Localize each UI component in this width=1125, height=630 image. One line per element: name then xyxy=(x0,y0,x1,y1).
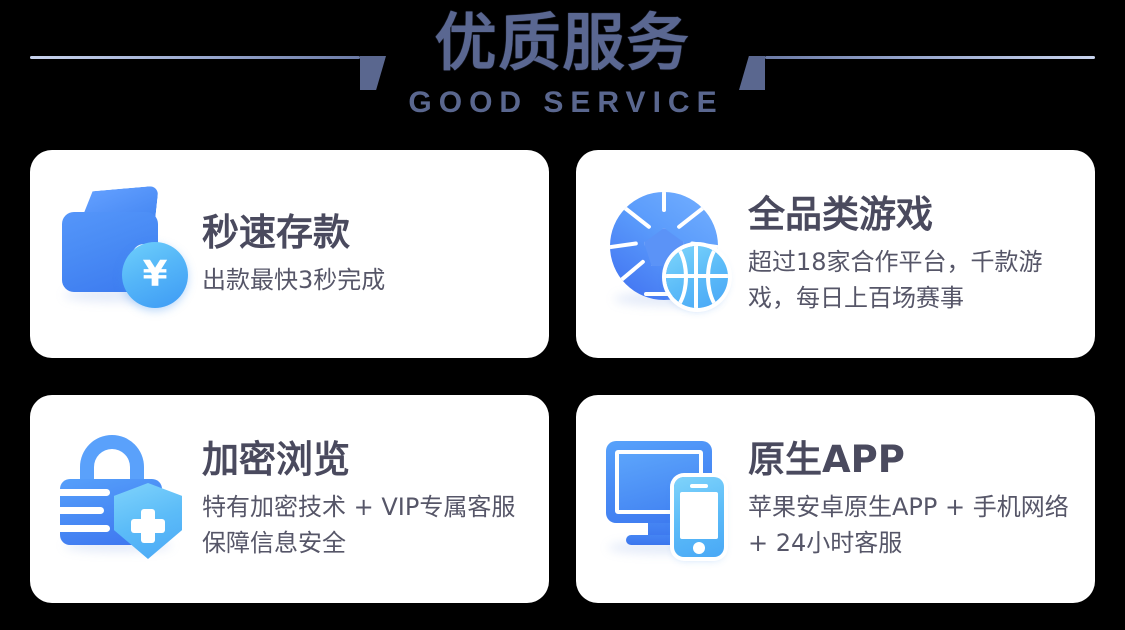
feature-card-deposit[interactable]: ¥ 秒速存款 出款最快3秒完成 xyxy=(30,150,549,358)
feature-card-subtitle: 出款最快3秒完成 xyxy=(202,262,533,298)
phone-screen xyxy=(680,492,718,539)
mobile-phone-icon xyxy=(674,477,724,557)
phone-home-button xyxy=(693,542,705,554)
feature-card-native-app[interactable]: 原生APP 苹果安卓原生APP + 手机网络 + 24小时客服 xyxy=(576,395,1095,603)
feature-card-title: 原生APP xyxy=(748,437,1079,483)
basketball-curve-left xyxy=(666,246,688,308)
soccer-seam xyxy=(676,194,718,229)
feature-card-text: 原生APP 苹果安卓原生APP + 手机网络 + 24小时客服 xyxy=(738,437,1095,561)
feature-card-text: 全品类游戏 超过18家合作平台，千款游戏，每日上百场赛事 xyxy=(738,192,1095,316)
soccer-seam xyxy=(662,192,666,212)
soccer-seam xyxy=(610,241,638,251)
cross-horizontal xyxy=(131,519,165,533)
feature-card-title: 全品类游戏 xyxy=(748,192,1079,238)
feature-card-text: 秒速存款 出款最快3秒完成 xyxy=(192,210,549,298)
basketball-icon xyxy=(666,246,728,308)
header-titles: 优质服务 GOOD SERVICE xyxy=(0,0,1125,120)
feature-card-subtitle: 苹果安卓原生APP + 手机网络 + 24小时客服 xyxy=(748,489,1078,561)
yen-symbol: ¥ xyxy=(142,257,167,293)
feature-card-subtitle: 特有加密技术 + VIP专属客服保障信息安全 xyxy=(202,489,532,561)
page-header: 优质服务 GOOD SERVICE xyxy=(0,0,1125,145)
wallet-icon: ¥ xyxy=(58,184,192,324)
padlock-slot-line xyxy=(60,489,110,496)
basketball-curve-right xyxy=(706,246,728,308)
feature-card-games[interactable]: 全品类游戏 超过18家合作平台，千款游戏，每日上百场赛事 xyxy=(576,150,1095,358)
page-root: 优质服务 GOOD SERVICE ¥ 秒速存款 出款最快3秒完成 xyxy=(0,0,1125,630)
padlock-icon xyxy=(58,429,192,569)
page-subtitle: GOOD SERVICE xyxy=(0,86,1125,120)
page-title: 优质服务 xyxy=(0,0,1125,86)
monitor-icon xyxy=(604,429,738,569)
feature-card-text: 加密浏览 特有加密技术 + VIP专属客服保障信息安全 xyxy=(192,437,549,561)
feature-card-grid: ¥ 秒速存款 出款最快3秒完成 xyxy=(30,150,1095,603)
soccer-ball-icon xyxy=(604,184,738,324)
padlock-slot-line xyxy=(60,507,104,514)
feature-card-subtitle: 超过18家合作平台，千款游戏，每日上百场赛事 xyxy=(748,244,1078,316)
soccer-seam xyxy=(610,259,646,293)
yen-coin-icon: ¥ xyxy=(122,242,188,308)
feature-card-encryption[interactable]: 加密浏览 特有加密技术 + VIP专属客服保障信息安全 xyxy=(30,395,549,603)
feature-card-title: 秒速存款 xyxy=(202,210,533,256)
feature-card-title: 加密浏览 xyxy=(202,437,533,483)
phone-speaker xyxy=(690,484,708,488)
soccer-seam xyxy=(610,194,652,229)
padlock-slot-line xyxy=(60,525,110,532)
